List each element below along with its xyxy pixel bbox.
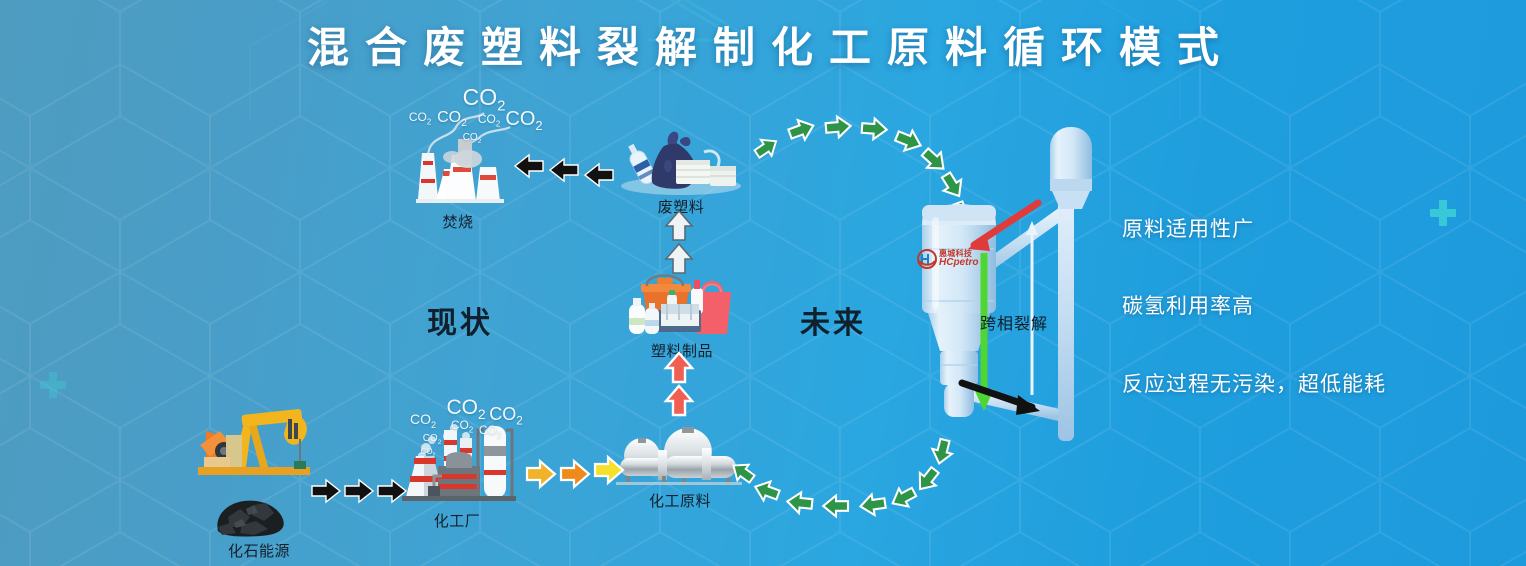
pyrolysis-reactor-icon (900, 125, 1110, 445)
hc-logo-icon (917, 249, 937, 269)
node-label-chemical-plant: 化工厂 (434, 510, 481, 531)
co2-label: CO2 (421, 447, 436, 459)
node-label-plastic-products: 塑料制品 (651, 340, 713, 361)
co2-label: CO2 (463, 84, 506, 115)
node-label-waste-plastic: 废塑料 (658, 196, 705, 217)
node-label-fossil-energy: 化石能源 (228, 540, 290, 561)
reactor-process-label: 跨相裂解 (980, 310, 1048, 334)
arrow-flow-feedstock-to-products (666, 353, 692, 415)
oil-pumpjack-and-coal-icon (190, 405, 330, 540)
infographic-canvas: 混合废塑料裂解制化工原料循环模式 现状 未来 (0, 0, 1526, 566)
feature-item-1: 原料适用性广 (1122, 213, 1254, 243)
arrow-flow-plant-to-feedstock (527, 457, 623, 487)
arrow-flow-products-to-waste (666, 211, 692, 273)
co2-label: CO2 (410, 411, 436, 430)
node-plastic-products[interactable]: 塑料制品 (627, 270, 737, 340)
waste-plastic-bag-icon (618, 126, 744, 196)
node-chemical-feedstock[interactable]: 化工原料 (616, 428, 746, 490)
node-fossil-energy[interactable]: 化石能源 (190, 405, 330, 540)
co2-label: CO2 (423, 433, 442, 446)
reactor-logo: 惠城科技 HCpetro (917, 244, 991, 274)
plastic-products-icon (627, 270, 737, 340)
reactor-assembly[interactable]: 惠城科技 HCpetro (900, 125, 1110, 445)
section-label-present: 现状 (427, 298, 493, 342)
plus-accent-icon (1430, 200, 1456, 226)
storage-tanks-icon (616, 428, 746, 490)
arrow-flow-waste-to-incineration (515, 155, 613, 186)
page-title: 混合废塑料裂解制化工原料循环模式 (0, 14, 1526, 75)
co2-label: CO2 (451, 418, 473, 434)
arrow-flow-reactor-to-feedstock (728, 438, 955, 517)
co2-label: CO2 (505, 108, 542, 133)
co2-label: CO2 (479, 423, 501, 439)
feature-item-3: 反应过程无污染，超低能耗 (1122, 368, 1386, 398)
plus-accent-icon (40, 372, 56, 388)
co2-label: CO2 (463, 132, 482, 145)
node-label-chemical-feedstock: 化工原料 (649, 490, 711, 511)
reactor-logo-en: HCpetro (939, 258, 978, 268)
section-label-future: 未来 (800, 298, 866, 342)
node-label-incineration: 焚烧 (442, 211, 473, 232)
co2-label: CO2 (409, 110, 431, 126)
node-waste-plastic[interactable]: 废塑料 (618, 126, 744, 196)
co2-label: CO2 (437, 109, 467, 129)
feature-item-2: 碳氢利用率高 (1122, 290, 1254, 320)
co2-label: CO2 (478, 112, 500, 128)
